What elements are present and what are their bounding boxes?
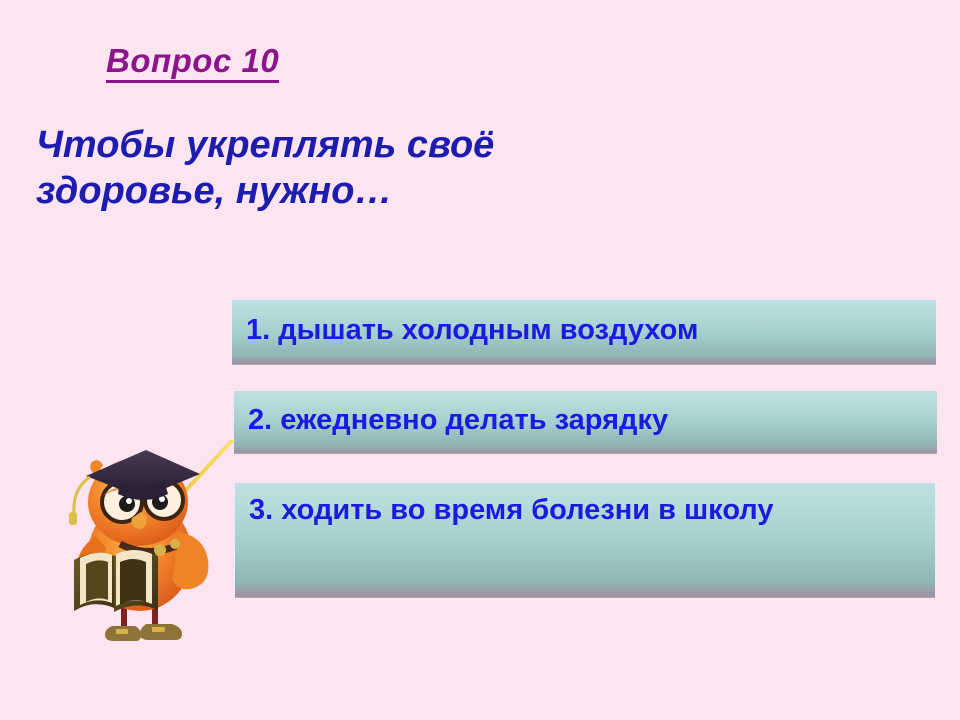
quiz-slide: Вопрос 10 Чтобы укреплять своё здоровье,… — [0, 0, 960, 720]
question-number-text: Вопрос 10 — [106, 42, 279, 83]
open-book-icon — [74, 550, 158, 612]
question-number-heading: Вопрос 10 — [106, 42, 279, 80]
answer-option-2[interactable]: 2. ежедневно делать зарядку — [234, 391, 937, 453]
owl-mascot-illustration — [28, 440, 258, 665]
question-prompt: Чтобы укреплять своё здоровье, нужно… — [36, 122, 596, 215]
owl-shoes — [105, 624, 182, 641]
answer-option-3-label: 3. ходить во время болезни в школу — [249, 492, 773, 529]
answer-option-3[interactable]: 3. ходить во время болезни в школу — [235, 483, 935, 597]
answer-option-1[interactable]: 1. дышать холодным воздухом — [232, 300, 936, 364]
answer-option-2-label: 2. ежедневно делать зарядку — [248, 402, 668, 439]
answer-option-1-label: 1. дышать холодным воздухом — [246, 312, 698, 349]
